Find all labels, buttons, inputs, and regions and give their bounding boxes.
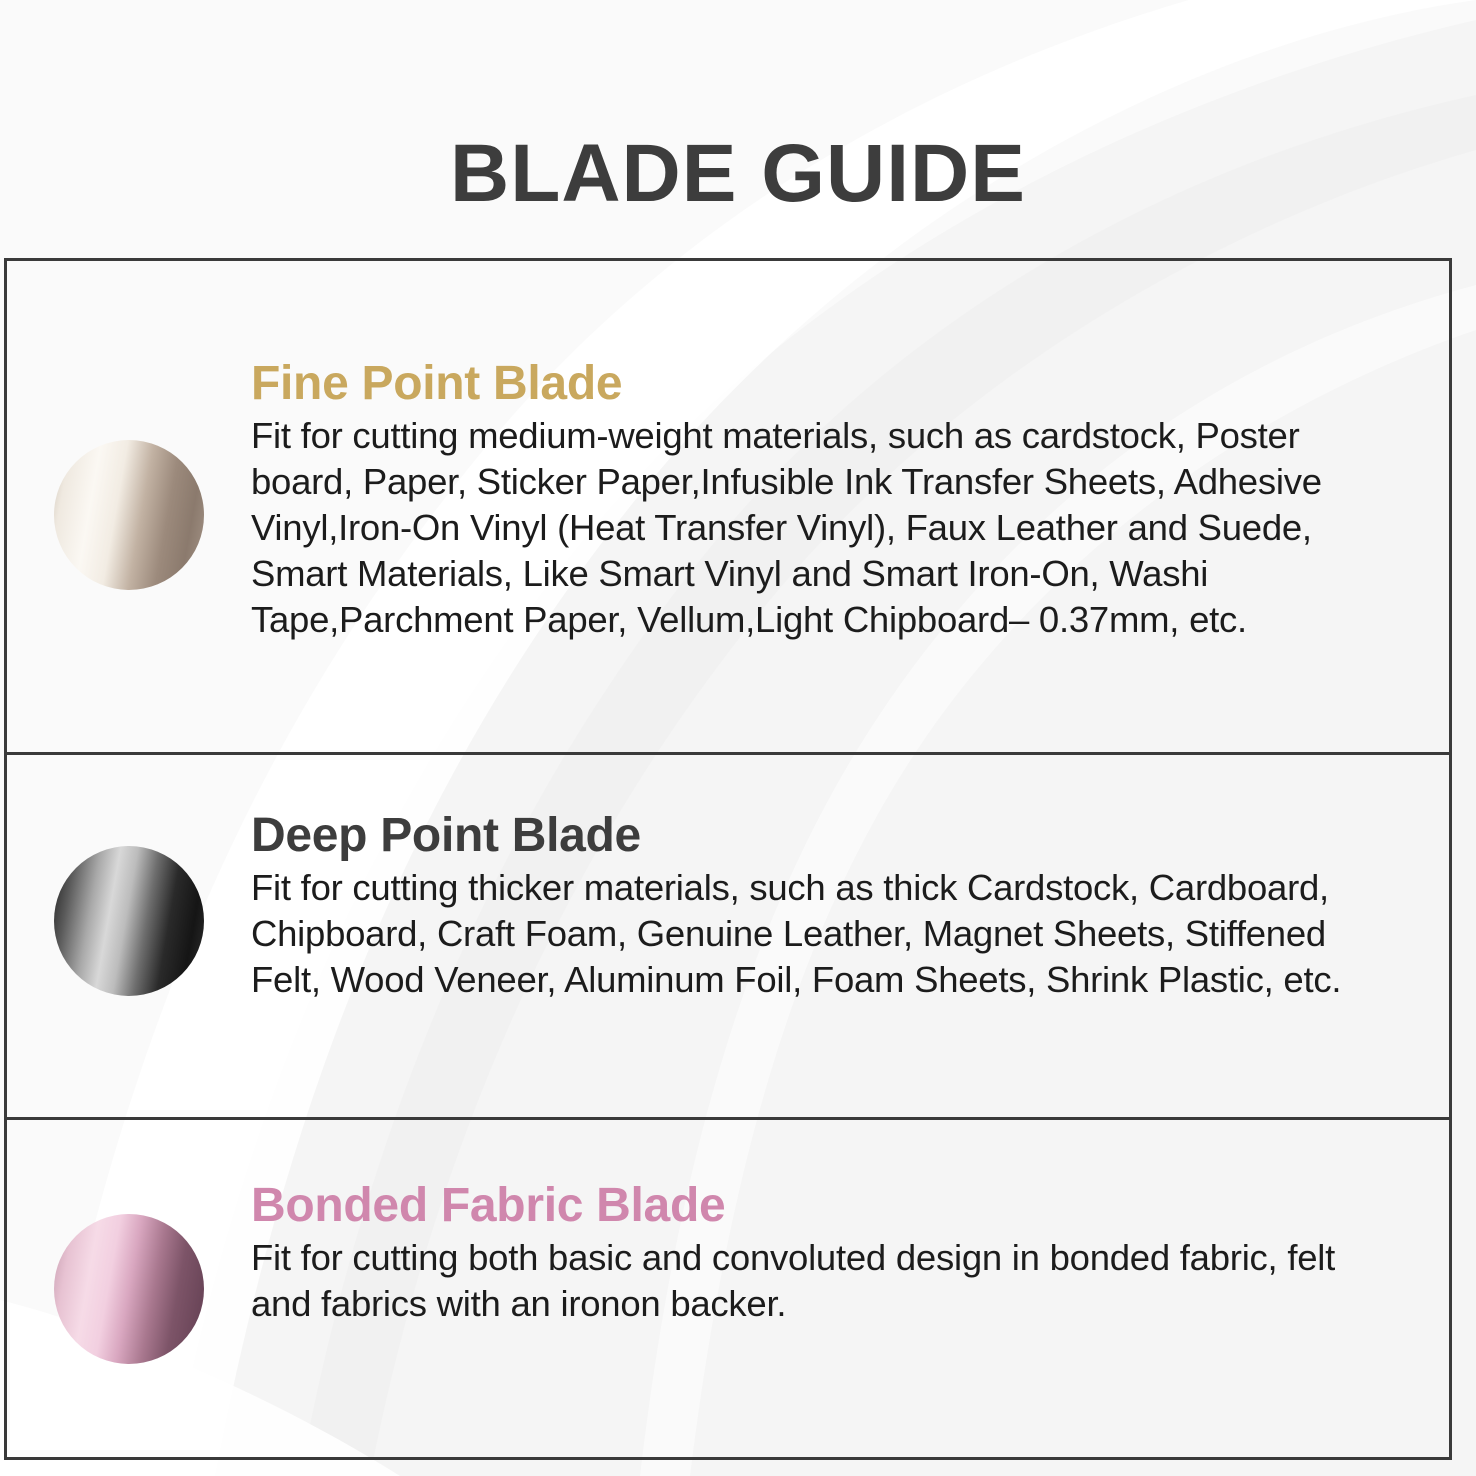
bonded-fabric-blade-swatch [54, 1214, 204, 1364]
page-title: BLADE GUIDE [450, 133, 1026, 215]
swatch-shading [54, 440, 204, 590]
blade-name-deep-point: Deep Point Blade [251, 808, 1397, 863]
swatch-cell [7, 261, 251, 590]
table-row: Fine Point Blade Fit for cutting medium-… [7, 261, 1449, 755]
swatch-shading [54, 846, 204, 996]
blade-description-fine-point: Fit for cutting medium-weight materials,… [251, 413, 1397, 643]
table-row: Deep Point Blade Fit for cutting thicker… [7, 755, 1449, 1120]
swatch-shading [54, 1214, 204, 1364]
text-cell: Fine Point Blade Fit for cutting medium-… [251, 261, 1449, 643]
fine-point-blade-swatch [54, 440, 204, 590]
blade-guide-table: Fine Point Blade Fit for cutting medium-… [4, 258, 1452, 1460]
table-row: Bonded Fabric Blade Fit for cutting both… [7, 1120, 1449, 1458]
swatch-cell [7, 1120, 251, 1364]
blade-guide-page: BLADE GUIDE Fine Point Blade Fit for cut… [0, 0, 1476, 1476]
blade-description-deep-point: Fit for cutting thicker materials, such … [251, 865, 1397, 1003]
deep-point-blade-swatch [54, 846, 204, 996]
blade-description-bonded-fabric: Fit for cutting both basic and convolute… [251, 1235, 1397, 1327]
blade-name-fine-point: Fine Point Blade [251, 356, 1397, 411]
blade-name-bonded-fabric: Bonded Fabric Blade [251, 1178, 1397, 1233]
swatch-cell [7, 755, 251, 996]
text-cell: Deep Point Blade Fit for cutting thicker… [251, 755, 1449, 1003]
text-cell: Bonded Fabric Blade Fit for cutting both… [251, 1120, 1449, 1327]
page-title-container: BLADE GUIDE [0, 78, 1476, 270]
